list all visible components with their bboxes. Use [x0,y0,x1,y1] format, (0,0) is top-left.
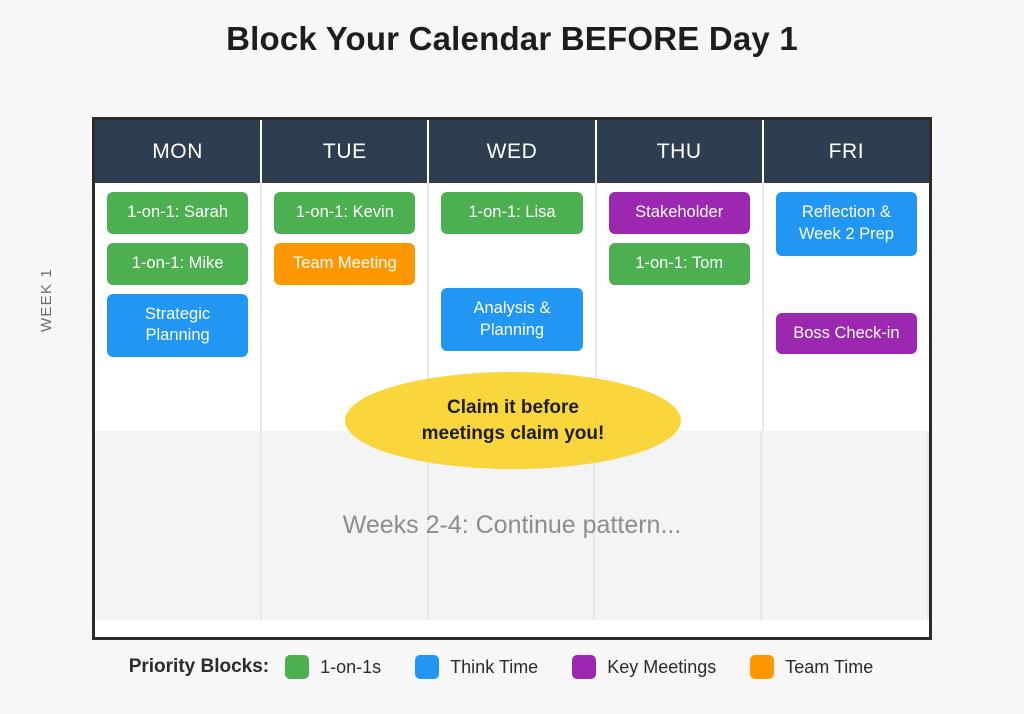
event-block[interactable]: 1-on-1: Tom [609,243,750,285]
week-axis-label: WEEK 1 [0,270,106,330]
event-block[interactable]: 1-on-1: Lisa [441,192,582,234]
legend-swatch-icon [415,655,439,679]
legend-label: Key Meetings [607,657,716,678]
legend-swatch-icon [285,655,309,679]
legend-swatch-icon [750,655,774,679]
event-block[interactable]: 1-on-1: Kevin [274,192,415,234]
callout-bubble: Claim it before meetings claim you! [345,372,681,469]
day-header-tue: TUE [262,120,429,183]
legend-item-team-time: Team Time [750,655,873,679]
legend-item-1on1s: 1-on-1s [285,655,381,679]
day-column-fri: Reflection & Week 2 Prep Boss Check-in [764,183,929,431]
page-title: Block Your Calendar BEFORE Day 1 [0,20,1024,58]
callout-line-2: meetings claim you! [422,421,605,446]
event-block[interactable]: 1-on-1: Sarah [107,192,248,234]
event-block[interactable]: Stakeholder [609,192,750,234]
day-header-mon: MON [95,120,262,183]
legend: Priority Blocks: 1-on-1s Think Time Key … [0,655,1024,679]
day-header-fri: FRI [764,120,929,183]
legend-swatch-icon [572,655,596,679]
event-block[interactable]: 1-on-1: Mike [107,243,248,285]
event-block[interactable]: Strategic Planning [107,294,248,358]
event-block[interactable]: Boss Check-in [776,313,917,355]
event-block[interactable]: Analysis & Planning [441,288,582,352]
event-block[interactable]: Reflection & Week 2 Prep [776,192,917,256]
day-column-mon: 1-on-1: Sarah 1-on-1: Mike Strategic Pla… [95,183,262,431]
legend-label: Think Time [450,657,538,678]
legend-item-key-meetings: Key Meetings [572,655,716,679]
event-block[interactable]: Team Meeting [274,243,415,285]
legend-label: Team Time [785,657,873,678]
calendar-header-row: MON TUE WED THU FRI [95,120,929,183]
legend-item-think-time: Think Time [415,655,538,679]
day-header-thu: THU [597,120,764,183]
callout-line-1: Claim it before [447,395,579,420]
legend-label: 1-on-1s [320,657,381,678]
day-header-wed: WED [429,120,596,183]
legend-title: Priority Blocks: [129,656,269,678]
